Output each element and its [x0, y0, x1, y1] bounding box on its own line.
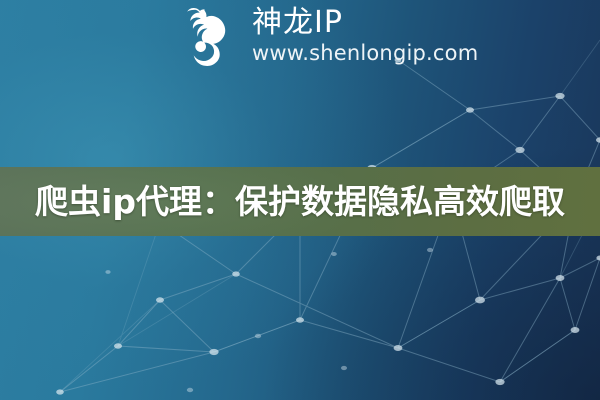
brand-lockup: 神龙IP www.shenlongip.com: [186, 6, 478, 72]
dragon-logo-icon: [186, 8, 246, 72]
brand-name: 神龙IP: [252, 6, 478, 40]
promo-banner: 神龙IP www.shenlongip.com 爬虫ip代理：保护数据隐私高效爬…: [0, 0, 600, 400]
title-band: 爬虫ip代理：保护数据隐私高效爬取: [0, 167, 600, 236]
brand-website-url: www.shenlongip.com: [252, 41, 478, 66]
article-title: 爬虫ip代理：保护数据隐私高效爬取: [35, 182, 565, 222]
